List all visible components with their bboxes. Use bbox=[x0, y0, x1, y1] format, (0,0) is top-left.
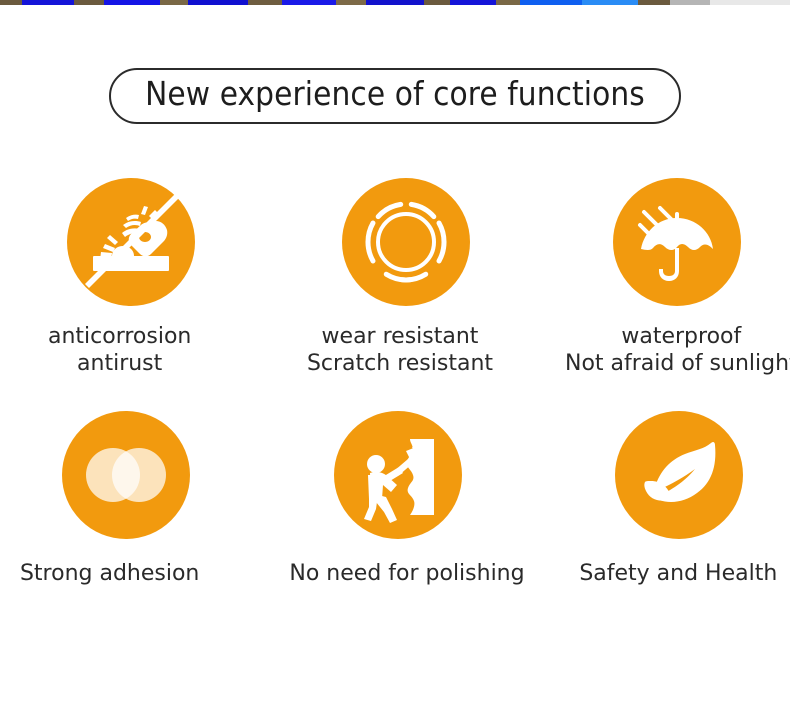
page-title-pill: New experience of core functions bbox=[109, 68, 681, 124]
photo-strip-segment bbox=[104, 0, 160, 5]
photo-strip-segment bbox=[496, 0, 520, 5]
photo-strip-segment bbox=[670, 0, 710, 5]
page-title-container: New experience of core functions bbox=[0, 68, 790, 124]
feature-caption: Strong adhesion bbox=[20, 561, 199, 588]
photo-strip-segment bbox=[450, 0, 496, 5]
feature-item-safety-health: Safety and Health bbox=[527, 403, 790, 618]
feature-item-strong-adhesion: Strong adhesion bbox=[0, 403, 263, 618]
feature-caption-line1: wear resistant bbox=[322, 324, 479, 349]
feature-caption-line1: Safety and Health bbox=[579, 561, 777, 586]
photo-strip-segment bbox=[336, 0, 366, 5]
feature-caption-line1: anticorrosion bbox=[48, 324, 191, 349]
photo-strip-segment bbox=[0, 0, 22, 5]
photo-strip-segment bbox=[424, 0, 450, 5]
overlapping-circles-adhesion-icon bbox=[62, 411, 190, 539]
leaf-sprout-icon bbox=[615, 411, 743, 539]
feature-item-wear-resistant: wear resistant Scratch resistant bbox=[263, 178, 526, 403]
worker-chisel-wall-icon bbox=[334, 411, 462, 539]
photo-strip-segment bbox=[638, 0, 670, 5]
photo-strip-segment bbox=[188, 0, 248, 5]
umbrella-rain-icon bbox=[613, 178, 741, 306]
photo-strip-segment bbox=[248, 0, 282, 5]
page-title: New experience of core functions bbox=[145, 77, 645, 112]
feature-caption: waterproof Not afraid of sunlight bbox=[565, 324, 790, 378]
feature-caption-line1: waterproof bbox=[621, 324, 741, 349]
feature-caption: No need for polishing bbox=[289, 561, 524, 588]
feature-caption-line1: Strong adhesion bbox=[20, 561, 199, 586]
feature-caption: anticorrosion antirust bbox=[48, 324, 191, 378]
feature-caption-line2: Not afraid of sunlight bbox=[565, 351, 790, 378]
decorative-photo-strip bbox=[0, 0, 790, 5]
feature-caption-line2: Scratch resistant bbox=[307, 351, 493, 378]
photo-strip-segment bbox=[22, 0, 74, 5]
photo-strip-segment bbox=[520, 0, 582, 5]
feature-caption: wear resistant Scratch resistant bbox=[307, 324, 493, 378]
photo-strip-segment bbox=[582, 0, 638, 5]
feature-row: Strong adhesion bbox=[0, 403, 790, 618]
photo-strip-segment bbox=[160, 0, 188, 5]
feature-caption-line1: No need for polishing bbox=[289, 561, 524, 586]
photo-strip-segment bbox=[710, 0, 790, 5]
feature-caption: Safety and Health bbox=[579, 561, 777, 588]
feature-item-no-polishing: No need for polishing bbox=[263, 403, 526, 618]
feature-item-anticorrosion: anticorrosion antirust bbox=[0, 178, 263, 403]
dashed-ring-wear-icon bbox=[342, 178, 470, 306]
photo-strip-segment bbox=[74, 0, 104, 5]
feature-row: anticorrosion antirust bbox=[0, 178, 790, 403]
feature-grid: anticorrosion antirust bbox=[0, 178, 790, 618]
photo-strip-segment bbox=[282, 0, 336, 5]
corrosion-hand-slash-icon bbox=[67, 178, 195, 306]
feature-item-waterproof: waterproof Not afraid of sunlight bbox=[527, 178, 790, 403]
photo-strip-segment bbox=[366, 0, 424, 5]
feature-caption-line2: antirust bbox=[48, 351, 191, 378]
